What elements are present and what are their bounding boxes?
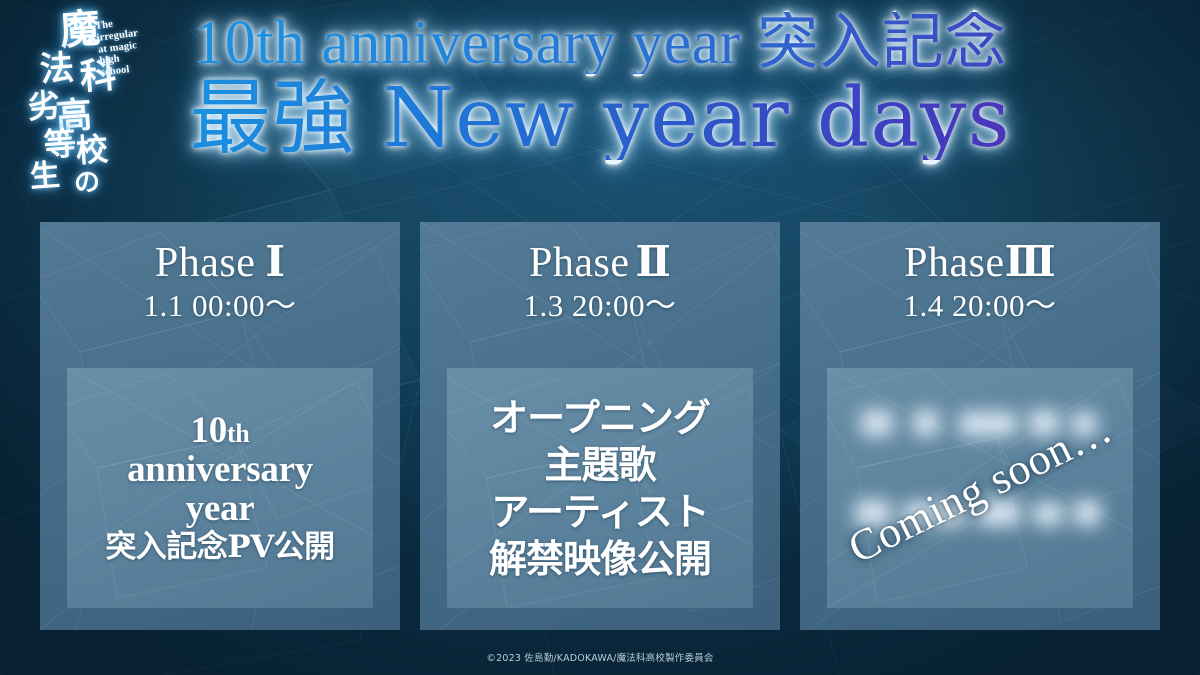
phase-2-line-3: アーティスト: [447, 488, 753, 535]
phase-2-line-4: 解禁映像公開: [447, 535, 753, 582]
phase-1-title-label: Phase: [155, 240, 256, 286]
logo-kanji-8: 生: [29, 161, 61, 193]
phase-2-title-label: Phase: [529, 240, 630, 286]
phase-2-date: 1.3 20:00〜: [420, 287, 780, 324]
phase-panel-2[interactable]: PhaseⅡ 1.3 20:00〜 オープニン: [420, 222, 780, 630]
phase-1-line-2: anniversary: [67, 450, 373, 489]
phase-panel-1[interactable]: PhaseI 1.1 00:00〜 10th: [40, 222, 400, 630]
phase-3-title-label: Phase: [904, 240, 1005, 286]
phase-2-numeral: Ⅱ: [636, 237, 671, 286]
phase-1-numeral: I: [265, 237, 285, 286]
phase-3-header: PhaseⅢ 1.4 20:00〜: [800, 222, 1160, 324]
phase-2-content-lines: オープニング 主題歌 アーティスト 解禁映像公開: [447, 394, 753, 582]
phase-1-content-box: 10th anniversary year 突入記念PV公開: [67, 368, 373, 608]
phase-2-header: PhaseⅡ 1.3 20:00〜: [420, 222, 780, 324]
phase-1-title: PhaseI: [40, 240, 400, 285]
phase-3-content-box: Coming soon…: [827, 368, 1133, 608]
phase-3-date: 1.4 20:00〜: [800, 287, 1160, 324]
phase-1-date: 1.1 00:00〜: [40, 287, 400, 324]
title-line-2-fill: 最強 New year days: [0, 78, 1200, 160]
title-line-2: 最強 New year days 最強 New year days: [0, 78, 1200, 160]
phase-2-title: PhaseⅡ: [420, 240, 780, 285]
phase-1-line-1: 10th: [67, 411, 373, 450]
main-title: 10th anniversary year 突入記念 10th annivers…: [0, 12, 1200, 160]
phase-panel-group: PhaseI 1.1 00:00〜 10th: [40, 222, 1160, 630]
phase-1-line-4: 突入記念PV公開: [67, 530, 373, 565]
phase-1-content-lines: 10th anniversary year 突入記念PV公開: [67, 411, 373, 565]
phase-2-content-box: オープニング 主題歌 アーティスト 解禁映像公開: [447, 368, 753, 608]
title-line-1-fill: 10th anniversary year 突入記念: [0, 12, 1200, 74]
copyright-notice: ©2023 佐島勤/KADOKAWA/魔法科高校製作委員会: [0, 650, 1200, 664]
phase-panel-3[interactable]: PhaseⅢ 1.4 20:00〜: [800, 222, 1160, 630]
logo-kanji-9: の: [73, 169, 101, 197]
phase-2-line-2: 主題歌: [447, 441, 753, 488]
phase-1-line-3: year: [67, 489, 373, 528]
title-line-1: 10th anniversary year 突入記念 10th annivers…: [0, 12, 1200, 74]
phase-3-numeral: Ⅲ: [1005, 237, 1056, 286]
phase-2-line-1: オープニング: [447, 394, 753, 441]
phase-3-title: PhaseⅢ: [800, 240, 1160, 285]
promo-stage: 魔 法 科 高 劣 等 校 生 の The irregular at magic…: [0, 0, 1200, 675]
phase-1-header: PhaseI 1.1 00:00〜: [40, 222, 400, 324]
phase-1-line-1-text: 10th: [191, 410, 250, 451]
